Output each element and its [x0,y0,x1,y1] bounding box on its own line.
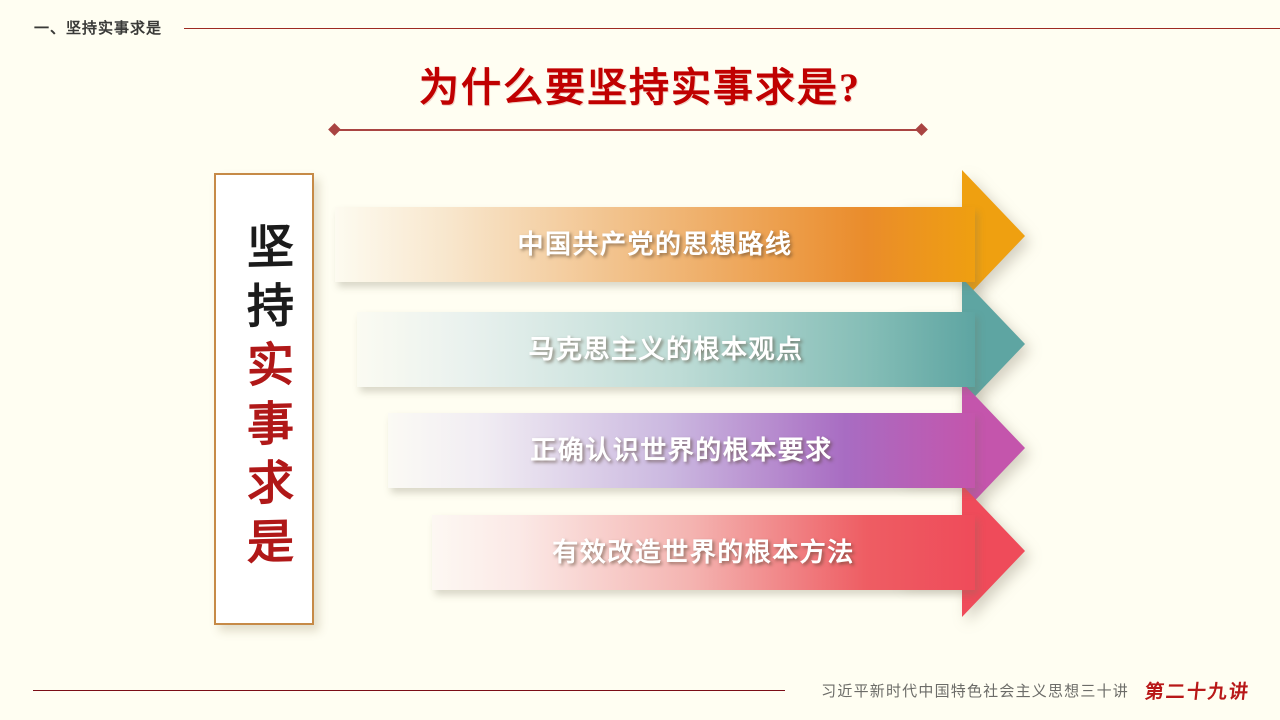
slide-header: 一、坚持实事求是 [34,14,1280,40]
section-heading: 一、坚持实事求是 [34,17,162,38]
arrow-head-2 [900,278,1025,410]
calligraphy-text: 坚持实事求是 [241,221,288,576]
title-underline-ornament [330,125,926,134]
diamond-right-icon [915,123,928,136]
page-title: 为什么要坚持实事求是? [0,62,1280,114]
arrow-label-1: 中国共产党的思想路线 [335,207,975,282]
arrow-bar-2 [357,312,975,387]
arrow-head-red-icon [900,485,1025,617]
arrow-bar-1 [335,207,975,282]
arrow-head-orange-icon [900,170,1025,302]
arrow-bar-4 [432,515,975,590]
vertical-calligraphy-panel: 坚持实事求是 [214,173,314,625]
arrow-head-purple-icon [900,382,1025,514]
arrow-head-1 [900,170,1025,302]
arrow-head-4 [900,485,1025,617]
footer-divider-line [33,690,785,691]
arrow-label-3: 正确认识世界的根本要求 [388,413,975,488]
arrow-label-2: 马克思主义的根本观点 [357,312,975,387]
header-divider-line [184,28,1280,29]
arrow-bar-3 [388,413,975,488]
arrow-label-4: 有效改造世界的根本方法 [432,515,975,590]
calligraphy-text-red: 实事求是 [239,339,291,576]
calligraphy-text-dark: 坚持 [239,221,291,340]
slide-footer: 习近平新时代中国特色社会主义思想三十讲 第二十九讲 [821,675,1250,705]
arrow-head-teal-icon [900,278,1025,410]
title-block: 为什么要坚持实事求是? [0,62,1280,114]
footer-lecture-number: 第二十九讲 [1144,677,1252,704]
underline-bar [336,129,920,131]
footer-series-title: 习近平新时代中国特色社会主义思想三十讲 [821,680,1129,701]
arrow-head-3 [900,382,1025,514]
